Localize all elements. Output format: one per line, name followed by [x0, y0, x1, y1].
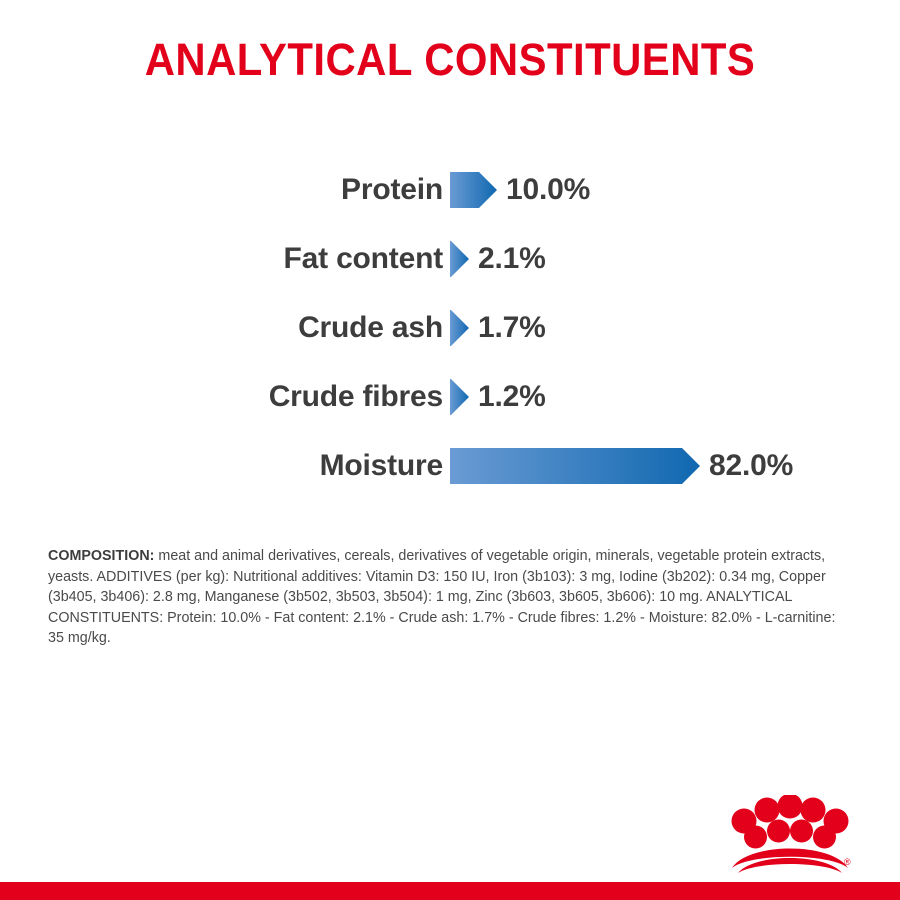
- royal-canin-crown-logo: ®: [726, 795, 854, 873]
- product-nutrition-panel: ANALYTICAL CONSTITUENTS Protein10.0%Fat …: [0, 0, 900, 900]
- nutrient-value: 1.7%: [478, 311, 546, 345]
- nutrient-row: Fat content2.1%: [0, 224, 900, 293]
- crown-icon: ®: [726, 795, 854, 873]
- bottom-red-band: [0, 882, 900, 900]
- analytical-constituents-chart: Protein10.0%Fat content2.1%Crude ash1.7%…: [0, 155, 900, 500]
- nutrient-value: 82.0%: [709, 449, 793, 483]
- nutrient-label: Fat content: [284, 242, 443, 276]
- nutrient-row: Crude fibres1.2%: [0, 362, 900, 431]
- composition-heading: COMPOSITION:: [48, 548, 154, 564]
- composition-body: meat and animal derivatives, cereals, de…: [48, 548, 835, 646]
- nutrient-bar: [450, 310, 469, 346]
- nutrient-label: Crude fibres: [269, 380, 443, 414]
- nutrient-bar: [450, 448, 700, 484]
- nutrient-row: Moisture82.0%: [0, 431, 900, 500]
- nutrient-label: Protein: [341, 173, 443, 207]
- nutrient-value: 1.2%: [478, 380, 546, 414]
- nutrient-value: 10.0%: [506, 173, 590, 207]
- nutrient-label: Moisture: [320, 449, 443, 483]
- nutrient-value: 2.1%: [478, 242, 546, 276]
- page-title: ANALYTICAL CONSTITUENTS: [32, 34, 869, 86]
- composition-paragraph: COMPOSITION: meat and animal derivatives…: [48, 546, 854, 649]
- nutrient-label: Crude ash: [298, 311, 443, 345]
- trademark-symbol: ®: [844, 857, 851, 867]
- nutrient-bar: [450, 241, 469, 277]
- nutrient-row: Crude ash1.7%: [0, 293, 900, 362]
- nutrient-row: Protein10.0%: [0, 155, 900, 224]
- nutrient-bar: [450, 172, 497, 208]
- nutrient-bar: [450, 379, 469, 415]
